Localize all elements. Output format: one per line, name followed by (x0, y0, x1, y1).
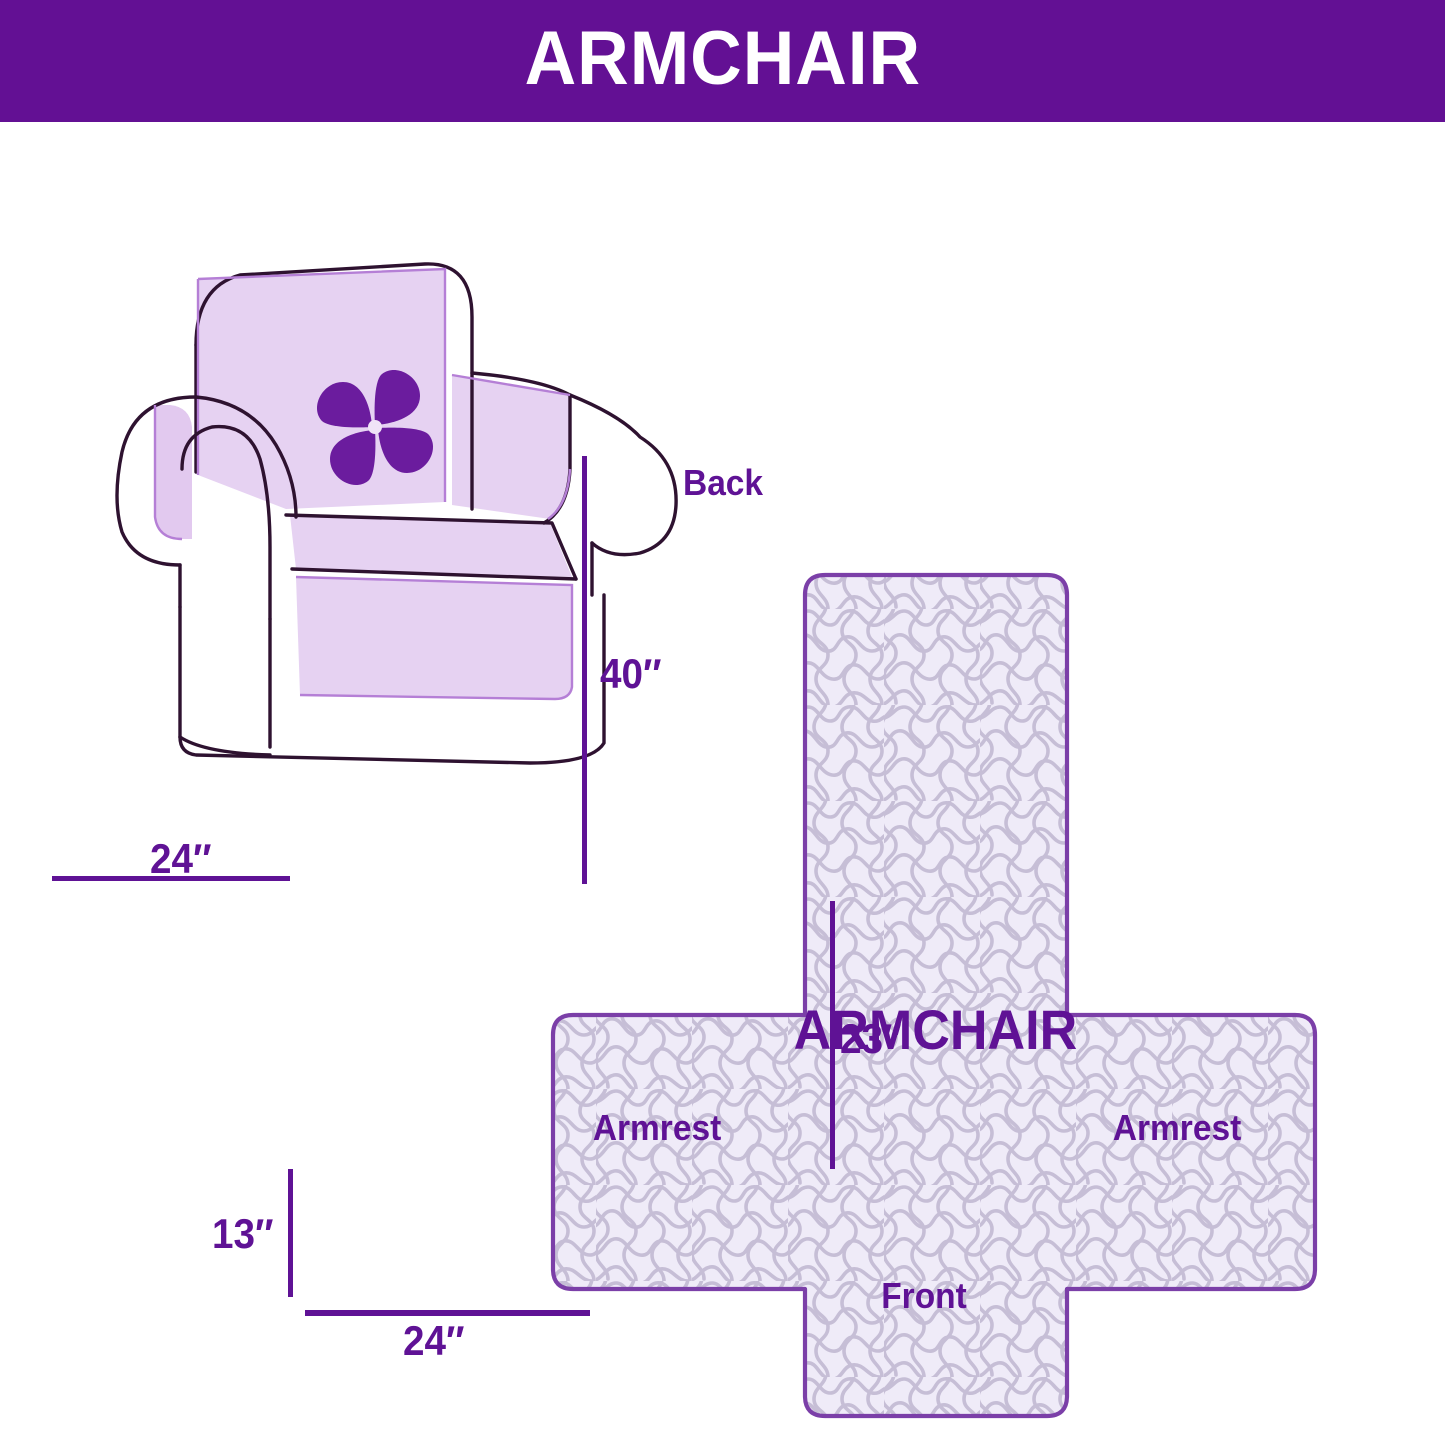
header-banner: ARMCHAIR (0, 0, 1445, 122)
cover-cross-shape (553, 575, 1315, 1416)
cover-layout-diagram (500, 417, 1445, 1437)
dimension-label-24in-bottom: 24″ (403, 1317, 464, 1365)
dimension-label-23in: 23″ (840, 1015, 901, 1063)
page-title: ARMCHAIR (524, 21, 920, 101)
dimension-label-40in: 40″ (600, 650, 661, 698)
dimension-rule-front-width (305, 1310, 590, 1316)
dimension-rule-center-height (830, 901, 835, 1169)
dimension-label-24in-top: 24″ (150, 835, 211, 883)
diagram-stage: .ol { fill:none; stroke:#2E1230; stroke-… (0, 122, 1445, 1445)
dimension-rule-back-height (582, 456, 587, 884)
dimension-label-13in: 13″ (212, 1210, 273, 1258)
dimension-rule-front-height (288, 1169, 293, 1297)
